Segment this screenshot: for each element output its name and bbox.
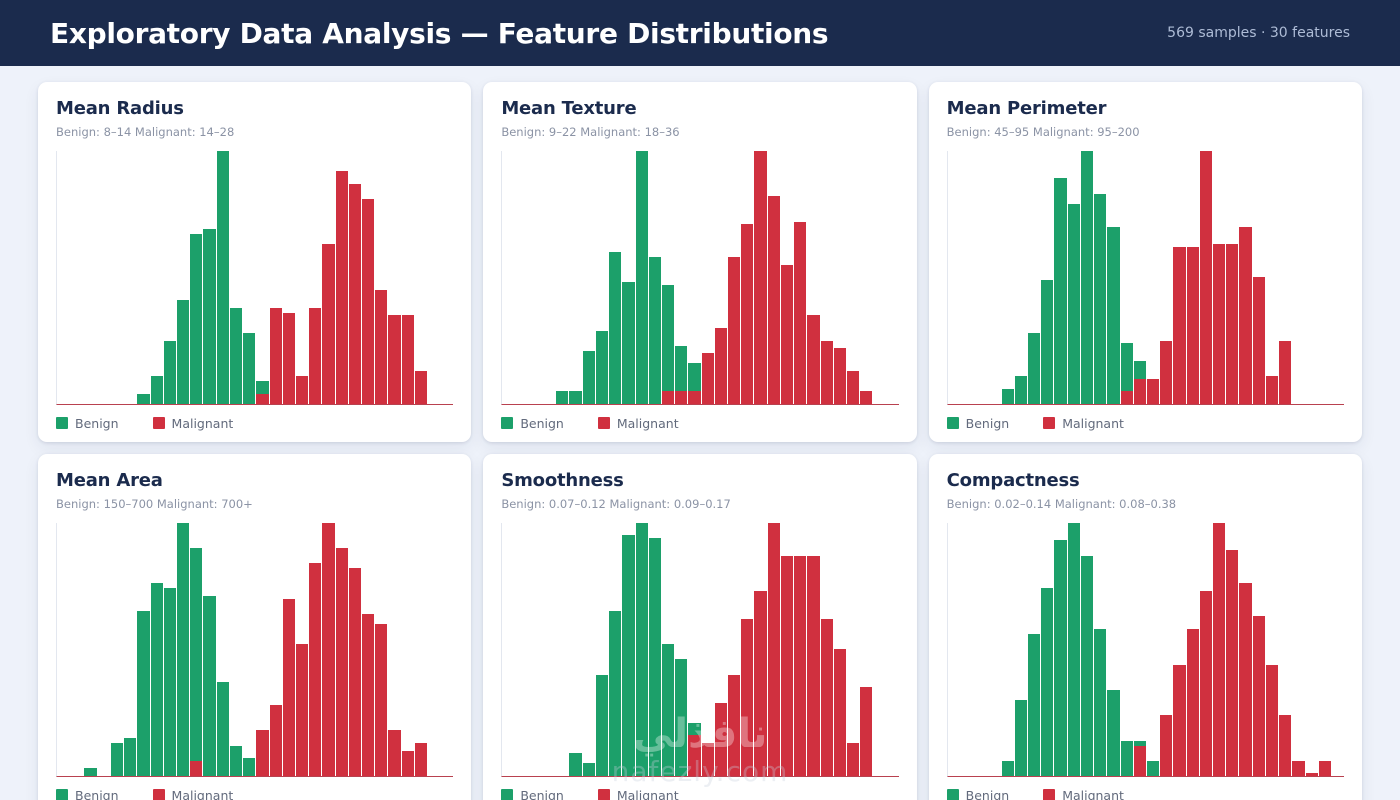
histogram-bar-benign <box>137 394 149 404</box>
histogram-bar-malignant <box>362 614 374 776</box>
histogram-bin <box>309 523 321 776</box>
feature-card: Mean TextureBenign: 9–22 Malignant: 18–3… <box>483 82 916 442</box>
histogram-bar-benign <box>243 758 255 776</box>
histogram-bar-malignant <box>388 730 400 776</box>
legend-item-benign[interactable]: Benign <box>56 788 119 800</box>
histogram-bars <box>57 151 453 404</box>
histogram-bar-malignant <box>768 196 780 404</box>
histogram-bar-malignant <box>375 290 387 404</box>
histogram-bin <box>1187 523 1199 776</box>
legend-item-malignant[interactable]: Malignant <box>1043 416 1124 431</box>
histogram-bin <box>1107 151 1119 404</box>
histogram-plot <box>947 523 1344 777</box>
histogram-bin <box>1187 151 1199 404</box>
histogram-bin <box>177 523 189 776</box>
histogram-bin <box>243 151 255 404</box>
legend-swatch-malignant-icon <box>153 789 165 800</box>
histogram-bar-malignant <box>402 751 414 776</box>
histogram-bin <box>662 523 674 776</box>
histogram-bin <box>71 523 83 776</box>
histogram-bar-benign <box>596 675 608 776</box>
histogram-bin <box>270 151 282 404</box>
histogram-bin <box>887 151 899 404</box>
histogram-bin <box>794 151 806 404</box>
histogram-bin <box>702 151 714 404</box>
histogram-bar-benign <box>1015 700 1027 776</box>
histogram-bin <box>441 523 453 776</box>
histogram-bin <box>336 523 348 776</box>
histogram-bin <box>503 523 515 776</box>
histogram-bar-malignant <box>860 391 872 404</box>
chart-legend: BenignMalignant <box>501 786 898 800</box>
histogram-bar-malignant <box>1279 341 1291 404</box>
histogram-bin <box>1015 523 1027 776</box>
histogram-bar-benign <box>217 151 229 404</box>
histogram-bin <box>530 151 542 404</box>
histogram-bin <box>151 523 163 776</box>
histogram-bin <box>1213 151 1225 404</box>
legend-label-malignant: Malignant <box>172 788 234 800</box>
histogram-bin <box>768 523 780 776</box>
histogram-bar-benign <box>569 391 581 404</box>
histogram-bin <box>362 151 374 404</box>
histogram-bar-benign <box>1054 178 1066 404</box>
histogram-bar-benign <box>622 282 634 404</box>
histogram-bar-benign <box>1002 761 1014 776</box>
histogram-bar-malignant <box>1134 379 1146 404</box>
histogram-bin <box>1068 151 1080 404</box>
histogram-bar-benign <box>230 308 242 404</box>
histogram-bin <box>781 523 793 776</box>
histogram-bin <box>1002 523 1014 776</box>
page-root: Exploratory Data Analysis — Feature Dist… <box>0 0 1400 800</box>
feature-range-subtitle: Benign: 45–95 Malignant: 95–200 <box>947 125 1344 139</box>
histogram-bin <box>111 151 123 404</box>
histogram-bin <box>728 151 740 404</box>
histogram-bin <box>270 523 282 776</box>
legend-label-benign: Benign <box>520 416 564 431</box>
histogram-bin <box>230 151 242 404</box>
histogram-bin <box>834 151 846 404</box>
histogram-bin <box>1253 523 1265 776</box>
histogram-bar-malignant <box>702 743 714 776</box>
histogram-bar-malignant <box>728 257 740 404</box>
histogram-bin <box>988 151 1000 404</box>
histogram-bar-malignant <box>296 644 308 776</box>
legend-label-malignant: Malignant <box>1062 788 1124 800</box>
histogram-bin <box>336 151 348 404</box>
histogram-bar-benign <box>151 583 163 776</box>
histogram-bin <box>1226 523 1238 776</box>
histogram-bar-malignant <box>1200 151 1212 404</box>
histogram-bar-malignant <box>834 649 846 776</box>
legend-label-benign: Benign <box>75 416 119 431</box>
histogram-bar-benign <box>230 746 242 776</box>
histogram-bin <box>675 151 687 404</box>
histogram-bar-malignant <box>754 591 766 776</box>
histogram-bin <box>569 151 581 404</box>
feature-card: CompactnessBenign: 0.02–0.14 Malignant: … <box>929 454 1362 800</box>
histogram-bin <box>98 523 110 776</box>
histogram-bar-malignant <box>415 371 427 404</box>
histogram-bin <box>1041 523 1053 776</box>
legend-label-benign: Benign <box>75 788 119 800</box>
histogram-bin <box>583 151 595 404</box>
histogram-bar-malignant <box>1160 715 1172 776</box>
histogram-bar-malignant <box>754 151 766 404</box>
histogram-bar-malignant <box>402 315 414 404</box>
histogram-bin <box>962 151 974 404</box>
histogram-bar-benign <box>636 151 648 404</box>
histogram-bin <box>1332 151 1344 404</box>
histogram-bin <box>834 523 846 776</box>
histogram-bin <box>1213 523 1225 776</box>
histogram-bar-benign <box>1002 389 1014 404</box>
histogram-bin <box>1015 151 1027 404</box>
legend-swatch-benign-icon <box>947 789 959 800</box>
histogram-bar-benign <box>1028 634 1040 776</box>
histogram-bin <box>1226 151 1238 404</box>
legend-label-malignant: Malignant <box>172 416 234 431</box>
histogram-bar-malignant <box>270 705 282 776</box>
histogram-bin <box>98 151 110 404</box>
histogram-bin <box>111 523 123 776</box>
histogram-bin <box>1292 151 1304 404</box>
histogram-bar-malignant <box>794 556 806 776</box>
page-header: Exploratory Data Analysis — Feature Dist… <box>0 0 1400 66</box>
histogram-bin <box>428 523 440 776</box>
histogram-bar-malignant <box>794 222 806 404</box>
histogram-bin <box>1292 523 1304 776</box>
histogram-bin <box>1054 523 1066 776</box>
histogram-bin <box>58 523 70 776</box>
histogram-bin <box>217 151 229 404</box>
histogram-bin <box>622 523 634 776</box>
histogram-bar-malignant <box>688 735 700 776</box>
histogram-bar-benign <box>1081 556 1093 776</box>
feature-card: Mean AreaBenign: 150–700 Malignant: 700+… <box>38 454 471 800</box>
histogram-bar-malignant <box>190 761 202 776</box>
chart-legend: BenignMalignant <box>947 786 1344 800</box>
histogram-bin <box>583 523 595 776</box>
histogram-bar-malignant <box>1226 244 1238 404</box>
legend-item-benign[interactable]: Benign <box>947 788 1010 800</box>
histogram-bar-benign <box>111 743 123 776</box>
histogram-bar-malignant <box>1266 665 1278 776</box>
histogram-bin <box>636 523 648 776</box>
feature-card: Mean RadiusBenign: 8–14 Malignant: 14–28… <box>38 82 471 442</box>
histogram-bars <box>57 523 453 776</box>
histogram-bin <box>741 151 753 404</box>
histogram-bin <box>556 523 568 776</box>
feature-title: Mean Texture <box>501 98 898 120</box>
histogram-bar-malignant <box>1239 227 1251 404</box>
legend-swatch-benign-icon <box>501 789 513 800</box>
legend-item-benign[interactable]: Benign <box>947 416 1010 431</box>
histogram-bin <box>1266 523 1278 776</box>
histogram-bin <box>636 151 648 404</box>
feature-title: Mean Area <box>56 470 453 492</box>
histogram-bin <box>1107 523 1119 776</box>
histogram-bin <box>217 523 229 776</box>
histogram-bar-malignant <box>283 599 295 776</box>
histogram-bin <box>860 523 872 776</box>
feature-title: Mean Perimeter <box>947 98 1344 120</box>
histogram-bin <box>503 151 515 404</box>
histogram-bar-malignant <box>675 391 687 404</box>
histogram-bar-benign <box>596 331 608 404</box>
feature-title: Smoothness <box>501 470 898 492</box>
histogram-bin <box>622 151 634 404</box>
histogram-bin <box>975 523 987 776</box>
histogram-bin <box>543 151 555 404</box>
histogram-bin <box>349 151 361 404</box>
histogram-bin <box>962 523 974 776</box>
legend-item-malignant[interactable]: Malignant <box>1043 788 1124 800</box>
histogram-bar-malignant <box>1253 616 1265 776</box>
histogram-bin <box>203 523 215 776</box>
histogram-bar-benign <box>190 234 202 404</box>
histogram-bin <box>1081 523 1093 776</box>
histogram-bar-benign <box>190 548 202 776</box>
histogram-bin <box>949 523 961 776</box>
histogram-bin <box>1279 523 1291 776</box>
histogram-bar-malignant <box>715 703 727 776</box>
histogram-bar-malignant <box>741 224 753 404</box>
legend-swatch-malignant-icon <box>153 417 165 429</box>
histogram-bin <box>428 151 440 404</box>
histogram-bin <box>309 151 321 404</box>
histogram-bin <box>322 151 334 404</box>
histogram-bin <box>256 151 268 404</box>
chart-legend: BenignMalignant <box>501 414 898 432</box>
histogram-bin <box>1121 523 1133 776</box>
histogram-bar-malignant <box>781 556 793 776</box>
histogram-bin <box>1068 523 1080 776</box>
histogram-bar-benign <box>1107 227 1119 404</box>
histogram-bar-benign <box>622 535 634 776</box>
histogram-bar-malignant <box>1187 629 1199 776</box>
histogram-bin <box>1081 151 1093 404</box>
feature-card: Mean PerimeterBenign: 45–95 Malignant: 9… <box>929 82 1362 442</box>
histogram-bin <box>203 151 215 404</box>
histogram-bar-benign <box>1068 204 1080 404</box>
histogram-bar-benign <box>1107 690 1119 776</box>
histogram-bin <box>821 523 833 776</box>
histogram-bar-malignant <box>1292 761 1304 776</box>
histogram-bar-malignant <box>1319 761 1331 776</box>
histogram-bin <box>688 151 700 404</box>
histogram-bin <box>58 151 70 404</box>
histogram-bar-malignant <box>415 743 427 776</box>
histogram-bin <box>649 151 661 404</box>
histogram-bar-malignant <box>309 563 321 776</box>
histogram-bin <box>675 523 687 776</box>
histogram-bin <box>1306 151 1318 404</box>
histogram-bar-malignant <box>1213 244 1225 404</box>
histogram-bar-benign <box>164 341 176 404</box>
histogram-bin <box>1002 151 1014 404</box>
histogram-bin <box>1160 523 1172 776</box>
histogram-bar-benign <box>177 523 189 776</box>
histogram-bar-malignant <box>821 341 833 404</box>
histogram-bin <box>949 151 961 404</box>
histogram-bar-benign <box>137 611 149 776</box>
legend-swatch-malignant-icon <box>598 417 610 429</box>
histogram-bin <box>807 523 819 776</box>
histogram-bin <box>230 523 242 776</box>
histogram-bin <box>860 151 872 404</box>
legend-item-benign[interactable]: Benign <box>501 416 564 431</box>
histogram-bar-malignant <box>847 743 859 776</box>
histogram-bin <box>873 151 885 404</box>
histogram-bin <box>728 523 740 776</box>
histogram-bin <box>283 523 295 776</box>
histogram-bin <box>322 523 334 776</box>
histogram-bar-benign <box>1094 629 1106 776</box>
histogram-bin <box>1332 523 1344 776</box>
histogram-bin <box>164 523 176 776</box>
histogram-bin <box>688 523 700 776</box>
legend-label-malignant: Malignant <box>617 788 679 800</box>
histogram-bar-benign <box>203 596 215 776</box>
histogram-bin <box>715 151 727 404</box>
histogram-bin <box>1239 151 1251 404</box>
histogram-bar-malignant <box>1173 665 1185 776</box>
histogram-bar-malignant <box>662 391 674 404</box>
histogram-bar-malignant <box>309 308 321 404</box>
histogram-bin <box>388 523 400 776</box>
histogram-bin <box>84 151 96 404</box>
legend-swatch-benign-icon <box>501 417 513 429</box>
histogram-bin <box>1173 523 1185 776</box>
chart-legend: BenignMalignant <box>56 786 453 800</box>
histogram-bin <box>243 523 255 776</box>
histogram-bar-malignant <box>702 353 714 404</box>
histogram-bin <box>988 523 1000 776</box>
histogram-bin <box>84 523 96 776</box>
histogram-bin <box>768 151 780 404</box>
histogram-bar-malignant <box>322 523 334 776</box>
feature-range-subtitle: Benign: 0.07–0.12 Malignant: 0.09–0.17 <box>501 497 898 511</box>
histogram-bar-benign <box>649 538 661 776</box>
histogram-bars <box>948 151 1344 404</box>
histogram-bin <box>375 523 387 776</box>
histogram-bin <box>873 523 885 776</box>
feature-range-subtitle: Benign: 9–22 Malignant: 18–36 <box>501 125 898 139</box>
histogram-bin <box>362 523 374 776</box>
histogram-bin <box>715 523 727 776</box>
histogram-bin <box>164 151 176 404</box>
legend-label-benign: Benign <box>520 788 564 800</box>
histogram-bar-benign <box>1094 194 1106 404</box>
histogram-bar-benign <box>609 252 621 404</box>
histogram-bar-benign <box>243 333 255 404</box>
histogram-bar-malignant <box>728 675 740 776</box>
histogram-bin <box>649 523 661 776</box>
histogram-bar-benign <box>164 588 176 776</box>
histogram-bar-malignant <box>1239 583 1251 776</box>
histogram-bar-benign <box>662 644 674 776</box>
histogram-bin <box>124 151 136 404</box>
histogram-bar-benign <box>1147 761 1159 776</box>
feature-range-subtitle: Benign: 8–14 Malignant: 14–28 <box>56 125 453 139</box>
legend-swatch-benign-icon <box>56 789 68 800</box>
histogram-bar-benign <box>124 738 136 776</box>
histogram-bin <box>388 151 400 404</box>
histogram-bar-malignant <box>807 315 819 404</box>
legend-item-malignant[interactable]: Malignant <box>153 416 234 431</box>
histogram-bar-malignant <box>388 315 400 404</box>
feature-range-subtitle: Benign: 150–700 Malignant: 700+ <box>56 497 453 511</box>
histogram-bin <box>375 151 387 404</box>
histogram-bar-benign <box>583 351 595 404</box>
histogram-bar-malignant <box>1121 391 1133 404</box>
histogram-bin <box>847 523 859 776</box>
histogram-plot <box>56 151 453 405</box>
histogram-bin <box>517 523 529 776</box>
legend-swatch-benign-icon <box>947 417 959 429</box>
histogram-bin <box>1239 523 1251 776</box>
page-title: Exploratory Data Analysis — Feature Dist… <box>50 17 828 50</box>
histogram-bin <box>1200 523 1212 776</box>
histogram-bin <box>441 151 453 404</box>
histogram-bin <box>975 151 987 404</box>
histogram-bin <box>1147 523 1159 776</box>
legend-item-benign[interactable]: Benign <box>501 788 564 800</box>
histogram-bin <box>124 523 136 776</box>
histogram-bar-benign <box>556 391 568 404</box>
histogram-bar-benign <box>1041 588 1053 776</box>
chart-legend: BenignMalignant <box>947 414 1344 432</box>
histogram-bar-malignant <box>1173 247 1185 404</box>
histogram-bar-benign <box>151 376 163 404</box>
histogram-bin <box>1160 151 1172 404</box>
histogram-bar-malignant <box>349 184 361 404</box>
legend-item-malignant[interactable]: Malignant <box>153 788 234 800</box>
histogram-bar-malignant <box>1306 773 1318 776</box>
histogram-bin <box>1134 151 1146 404</box>
histogram-bar-malignant <box>1266 376 1278 404</box>
histogram-plot <box>947 151 1344 405</box>
feature-title: Mean Radius <box>56 98 453 120</box>
histogram-bin <box>349 523 361 776</box>
histogram-bar-malignant <box>336 171 348 404</box>
histogram-bin <box>807 151 819 404</box>
legend-item-benign[interactable]: Benign <box>56 416 119 431</box>
histogram-bin <box>1028 151 1040 404</box>
legend-item-malignant[interactable]: Malignant <box>598 788 679 800</box>
histogram-bar-benign <box>1041 280 1053 404</box>
histogram-bin <box>1253 151 1265 404</box>
legend-label-benign: Benign <box>966 788 1010 800</box>
histogram-bar-malignant <box>715 328 727 404</box>
dataset-summary: 569 samples · 30 features <box>1167 25 1350 41</box>
legend-swatch-malignant-icon <box>1043 789 1055 800</box>
histogram-bar-malignant <box>283 313 295 404</box>
histogram-bar-benign <box>649 257 661 404</box>
histogram-bin <box>596 151 608 404</box>
feature-card-grid: Mean RadiusBenign: 8–14 Malignant: 14–28… <box>0 66 1400 800</box>
legend-item-malignant[interactable]: Malignant <box>598 416 679 431</box>
chart-legend: BenignMalignant <box>56 414 453 432</box>
histogram-bar-benign <box>1068 523 1080 776</box>
histogram-bin <box>256 523 268 776</box>
histogram-bin <box>662 151 674 404</box>
histogram-bar-malignant <box>741 619 753 776</box>
histogram-bin <box>1041 151 1053 404</box>
histogram-bin <box>296 151 308 404</box>
